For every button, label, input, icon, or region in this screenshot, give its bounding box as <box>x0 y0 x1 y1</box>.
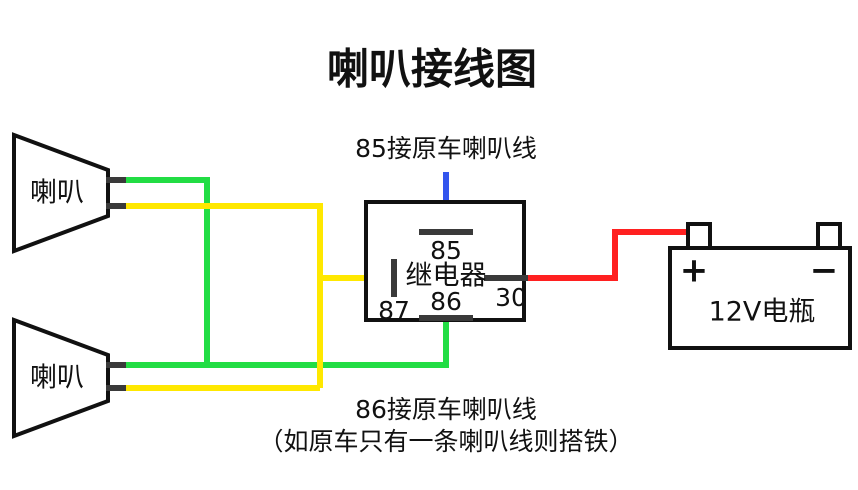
note-terminal-86-parenthetical: （如原车只有一条喇叭线则搭铁） <box>258 427 633 456</box>
battery: + − 12V电瓶 <box>670 224 850 348</box>
wire-red-to-battery-positive <box>512 232 690 278</box>
speaker-top-label: 喇叭 <box>30 178 84 209</box>
battery-label: 12V电瓶 <box>709 297 816 328</box>
relay-terminal-87-label: 87 <box>378 296 410 325</box>
relay: 85 87 86 30 继电器 <box>366 202 528 325</box>
speaker-bottom: 喇叭 <box>14 320 126 436</box>
note-terminal-85: 85接原车喇叭线 <box>355 134 537 163</box>
horn-wiring-diagram: 喇叭 喇叭 85 87 86 30 继电器 <box>0 0 858 490</box>
diagram-canvas: 喇叭 喇叭 85 87 86 30 继电器 <box>0 0 858 490</box>
battery-positive-symbol: + <box>680 251 709 291</box>
speaker-top: 喇叭 <box>14 135 126 251</box>
wire-yellow-top-speaker <box>122 206 320 388</box>
relay-terminal-30-label: 30 <box>495 283 527 312</box>
page-title: 喇叭接线图 <box>327 45 537 94</box>
note-terminal-86: 86接原车喇叭线 <box>355 395 537 424</box>
wire-green-bottom-speaker <box>122 318 446 365</box>
battery-negative-symbol: − <box>810 251 839 291</box>
speaker-bottom-label: 喇叭 <box>30 363 84 394</box>
relay-label: 继电器 <box>406 261 487 292</box>
